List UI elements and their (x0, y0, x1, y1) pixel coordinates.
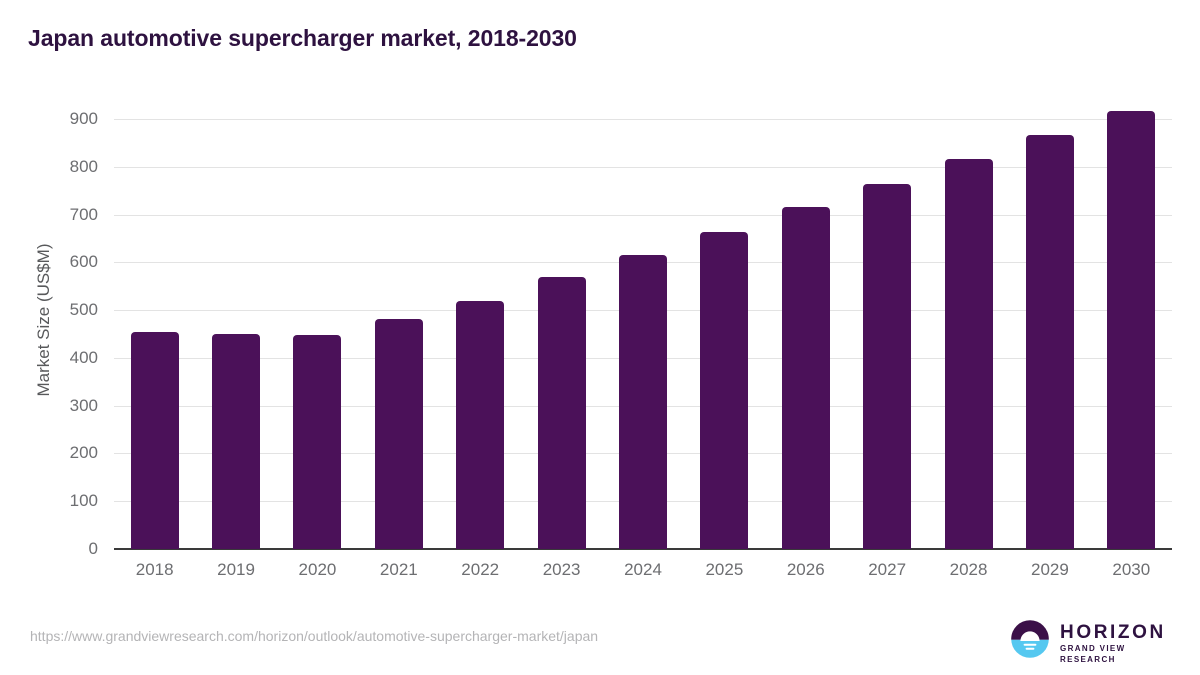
x-axis-tick-label: 2019 (217, 560, 255, 580)
x-axis-tick-label: 2023 (543, 560, 581, 580)
bar[interactable] (375, 319, 423, 549)
y-axis-tick-label: 500 (0, 300, 106, 320)
bar[interactable] (538, 277, 586, 549)
horizon-logo: HORIZON GRAND VIEW RESEARCH (1010, 617, 1170, 661)
logo-subtitle: GRAND VIEW RESEARCH (1060, 643, 1170, 665)
horizon-logo-text: HORIZON GRAND VIEW RESEARCH (1060, 623, 1170, 665)
x-axis-tick-label: 2024 (624, 560, 662, 580)
chart-page: Japan automotive supercharger market, 20… (0, 0, 1200, 675)
y-axis-tick-label: 400 (0, 348, 106, 368)
x-axis-tick-labels: 2018201920202021202220232024202520262027… (114, 560, 1172, 590)
bar[interactable] (131, 332, 179, 549)
x-axis-tick-label: 2020 (299, 560, 337, 580)
bar[interactable] (293, 335, 341, 549)
x-axis-tick-label: 2026 (787, 560, 825, 580)
x-axis-tick-label: 2029 (1031, 560, 1069, 580)
y-axis-tick-label: 300 (0, 396, 106, 416)
x-axis-tick-label: 2027 (868, 560, 906, 580)
logo-wordmark: HORIZON (1060, 623, 1170, 643)
y-axis-tick-label: 800 (0, 157, 106, 177)
y-axis-tick-label: 100 (0, 491, 106, 511)
bar[interactable] (700, 232, 748, 549)
x-axis-tick-label: 2022 (461, 560, 499, 580)
source-url[interactable]: https://www.grandviewresearch.com/horizo… (30, 628, 598, 644)
y-axis-tick-label: 700 (0, 205, 106, 225)
bar[interactable] (782, 207, 830, 549)
bar[interactable] (863, 184, 911, 550)
bar[interactable] (619, 255, 667, 549)
y-axis-tick-label: 600 (0, 252, 106, 272)
y-axis-tick-labels: 0100200300400500600700800900 (0, 0, 106, 675)
x-axis-tick-label: 2028 (950, 560, 988, 580)
bar[interactable] (456, 301, 504, 549)
chart-plot-area: Market Size (US$M) 010020030040050060070… (0, 0, 1200, 675)
bar[interactable] (212, 334, 260, 549)
x-axis-tick-label: 2018 (136, 560, 174, 580)
x-axis-tick-label: 2021 (380, 560, 418, 580)
bar[interactable] (1107, 111, 1155, 549)
bar[interactable] (1026, 135, 1074, 549)
y-axis-tick-label: 200 (0, 443, 106, 463)
y-axis-tick-label: 0 (0, 539, 106, 559)
y-axis-tick-label: 900 (0, 109, 106, 129)
x-axis-tick-label: 2030 (1112, 560, 1150, 580)
x-axis-tick-label: 2025 (705, 560, 743, 580)
bar[interactable] (945, 159, 993, 549)
horizon-logo-icon (1010, 619, 1050, 659)
